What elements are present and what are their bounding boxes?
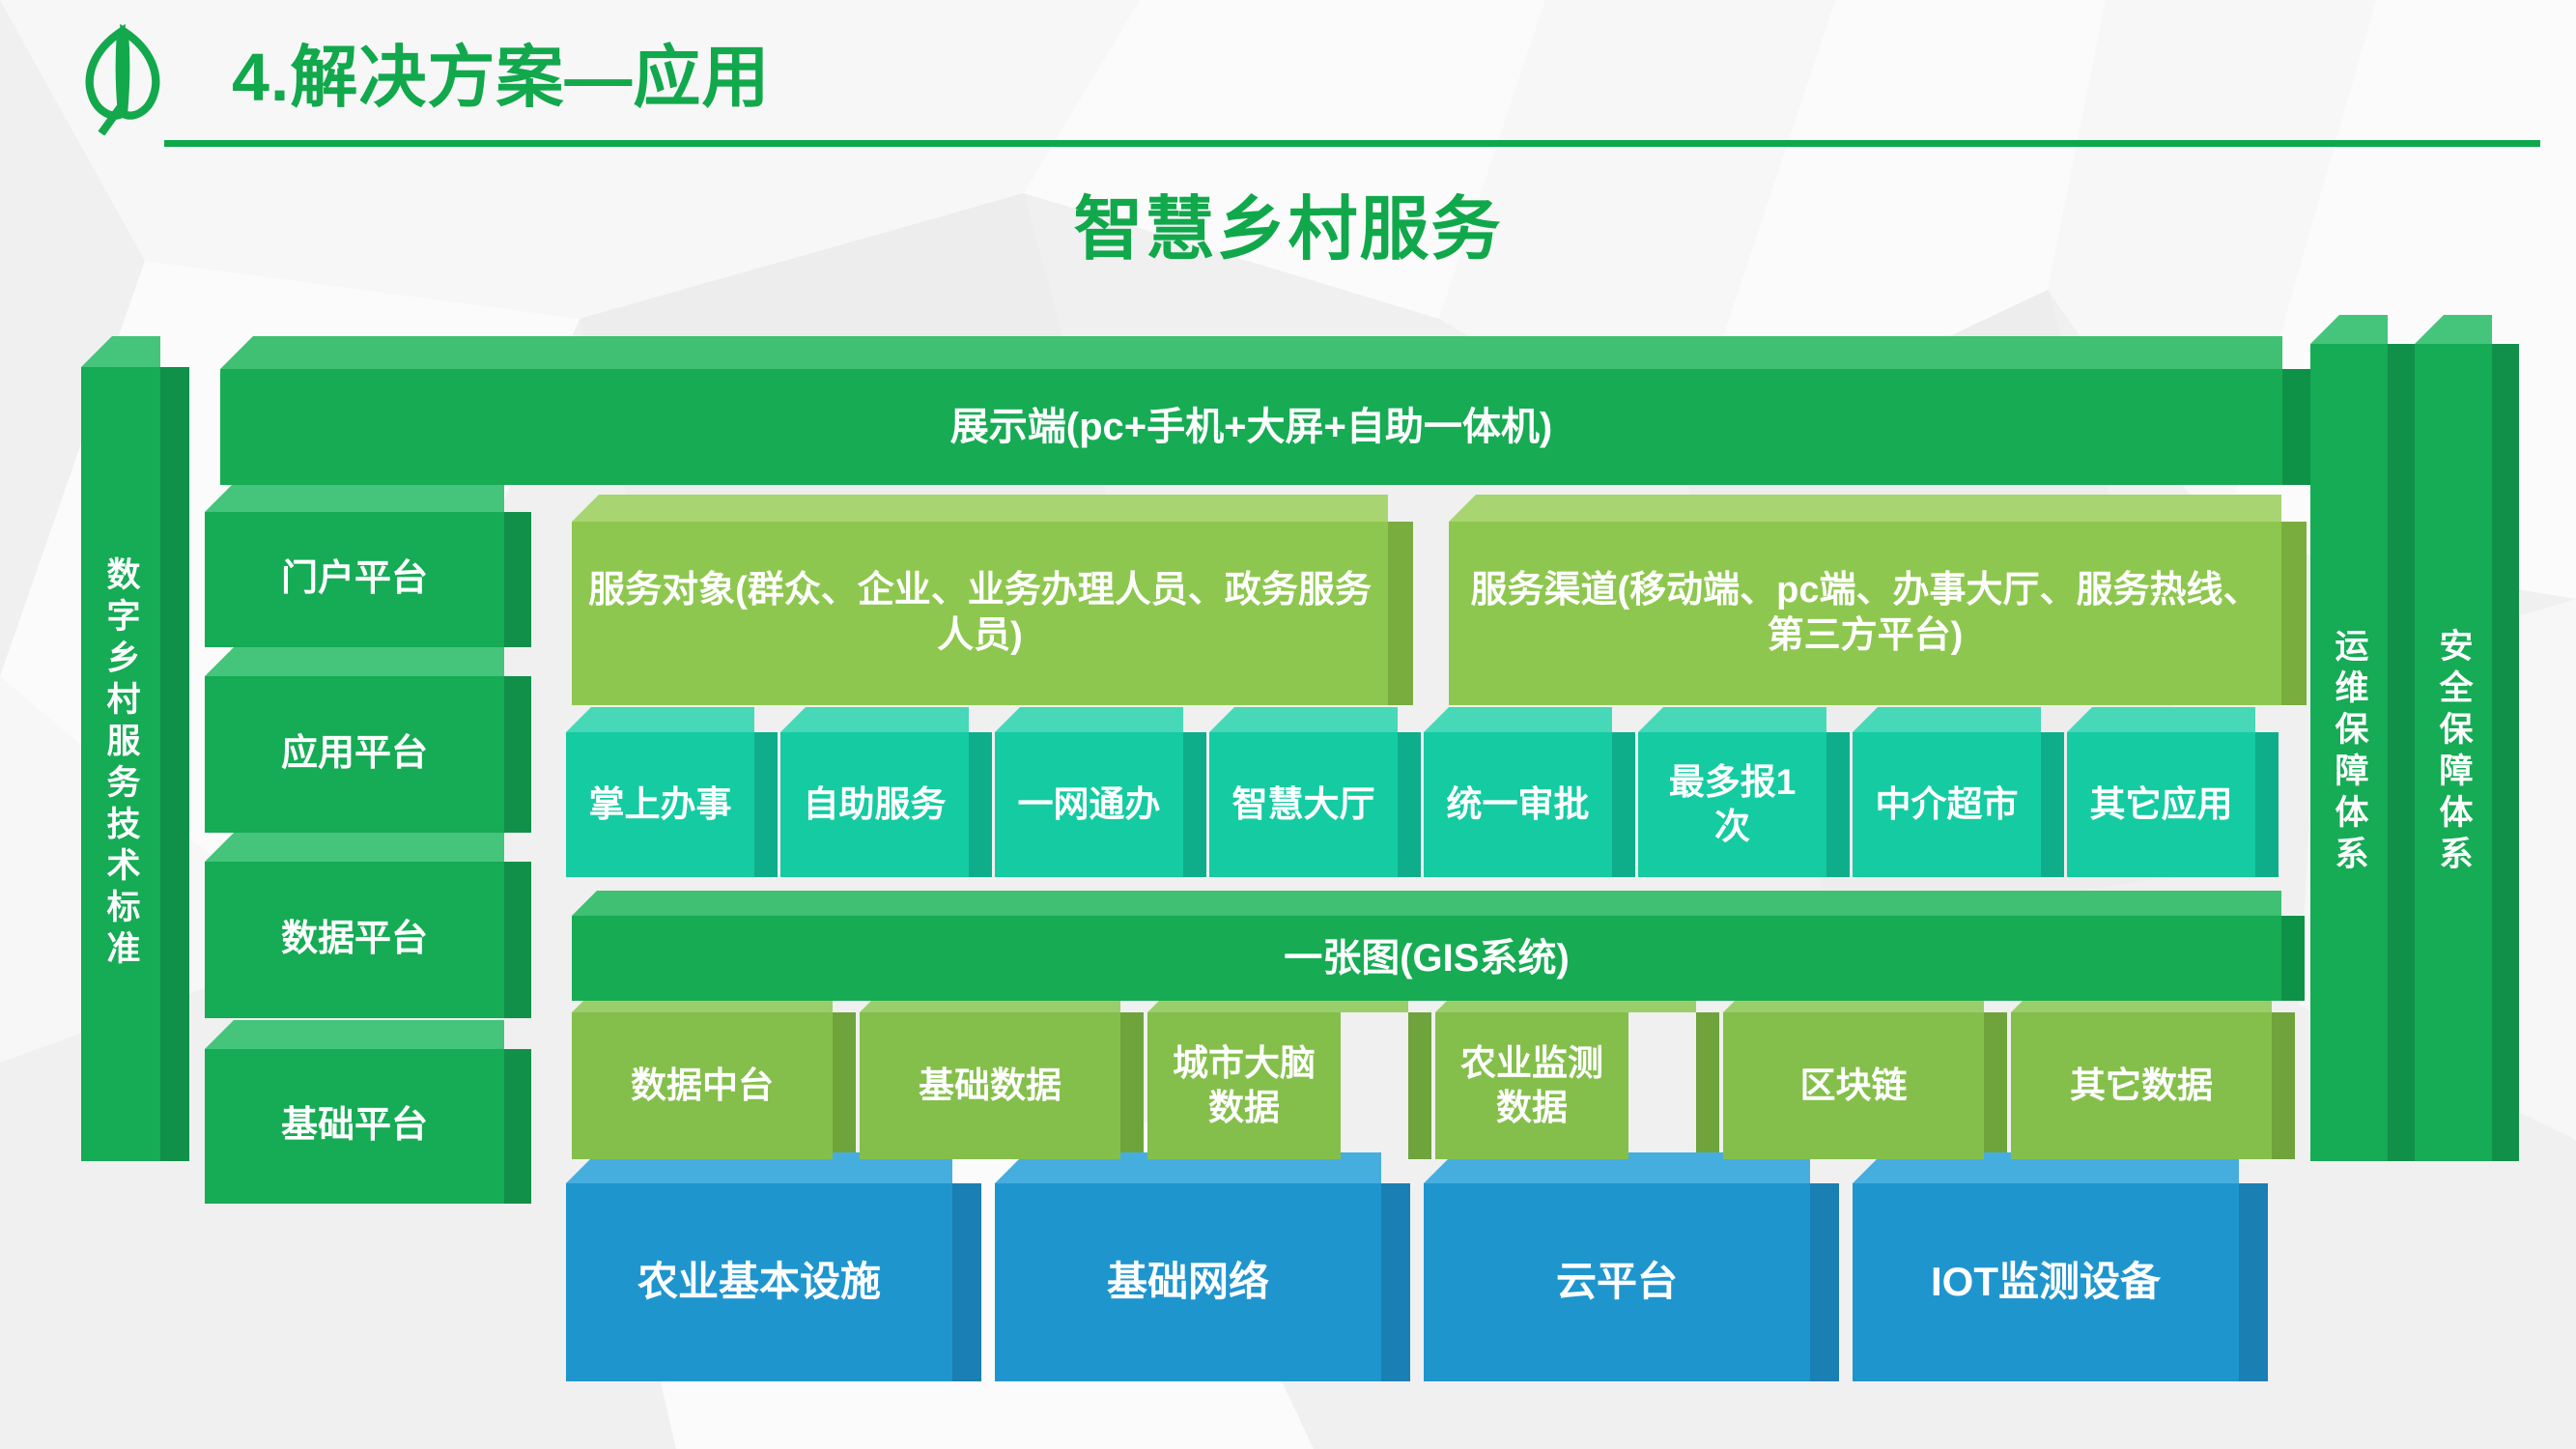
application-block-label: 自助服务: [780, 732, 969, 877]
block-side-face: [1408, 1012, 1431, 1159]
layer-name-portal-label: 门户平台: [205, 512, 504, 647]
layer-name-infrastructure[interactable]: 基础平台: [205, 1049, 504, 1204]
infrastructure-block[interactable]: IOT监测设备: [1853, 1183, 2239, 1381]
data-block[interactable]: 农业监测数据: [1435, 1012, 1696, 1159]
block-side-face: [1612, 732, 1635, 877]
application-block[interactable]: 其它应用: [2067, 732, 2255, 877]
layer-name-data[interactable]: 数据平台: [205, 862, 504, 1018]
block-top-face: [780, 707, 969, 732]
block-side-face: [2041, 732, 2064, 877]
block-side-face: [1826, 732, 1850, 877]
block-side-face: [969, 732, 992, 877]
portal-block-service-objects[interactable]: 服务对象(群众、企业、业务办理人员、政务服务人员): [572, 522, 1388, 705]
infrastructure-block[interactable]: 云平台: [1424, 1183, 1810, 1381]
block-side-face: [1120, 1012, 1144, 1159]
block-top-face: [1424, 707, 1612, 732]
application-block[interactable]: 最多报1次: [1638, 732, 1826, 877]
block-side-face: [952, 1183, 981, 1381]
block-side-face: [2281, 522, 2307, 705]
bar-top-face: [572, 891, 2281, 916]
data-block[interactable]: 基础数据: [860, 1012, 1120, 1159]
gis-layer-bar[interactable]: 一张图(GIS系统): [572, 916, 2281, 1001]
block-side-face: [833, 1012, 856, 1159]
application-block[interactable]: 一网通办: [995, 732, 1183, 877]
block-top-face: [205, 647, 504, 676]
infrastructure-block-label: 农业基本设施: [566, 1183, 952, 1381]
block-side-face: [2239, 1183, 2268, 1381]
block-top-face: [572, 495, 1388, 522]
pillar-side-face: [160, 367, 189, 1161]
infrastructure-block-label: 云平台: [1424, 1183, 1810, 1381]
data-block-label: 数据中台: [572, 1012, 833, 1159]
leaf-icon: [60, 19, 185, 135]
data-block[interactable]: 城市大脑数据: [1147, 1012, 1408, 1159]
layer-name-application[interactable]: 应用平台: [205, 676, 504, 833]
block-side-face: [1696, 1012, 1719, 1159]
block-top-face: [1209, 707, 1398, 732]
title-divider: [164, 140, 2540, 147]
pillar-top-face: [2415, 315, 2492, 344]
block-top-face: [1853, 707, 2041, 732]
block-side-face: [504, 862, 531, 1018]
application-block[interactable]: 自助服务: [780, 732, 969, 877]
block-top-face: [2067, 707, 2255, 732]
data-block[interactable]: 区块链: [1723, 1012, 1984, 1159]
gis-layer-label: 一张图(GIS系统): [572, 916, 2281, 1001]
page-title: 4.解决方案—应用: [232, 23, 770, 121]
block-top-face: [205, 833, 504, 862]
application-block-label: 统一审批: [1424, 732, 1612, 877]
left-pillar-standards[interactable]: 数字乡村服务技术标准: [81, 367, 160, 1161]
data-block-label: 基础数据: [860, 1012, 1120, 1159]
application-block-label: 最多报1次: [1638, 732, 1826, 877]
right-pillar-security-label: 安全保障体系: [2415, 344, 2492, 1161]
block-side-face: [1183, 732, 1206, 877]
application-block[interactable]: 中介超市: [1853, 732, 2041, 877]
block-side-face: [504, 512, 531, 647]
application-block[interactable]: 掌上办事: [566, 732, 754, 877]
bar-side-face: [2282, 369, 2313, 485]
block-side-face: [504, 676, 531, 833]
block-side-face: [2255, 732, 2279, 877]
block-side-face: [1984, 1012, 2007, 1159]
block-side-face: [754, 732, 778, 877]
block-top-face: [995, 707, 1183, 732]
page-header: 4.解决方案—应用: [0, 0, 2576, 155]
block-top-face: [566, 707, 754, 732]
application-block-label: 掌上办事: [566, 732, 754, 877]
data-block-label: 其它数据: [2011, 1012, 2272, 1159]
pillar-top-face: [2310, 315, 2388, 344]
layer-name-infrastructure-label: 基础平台: [205, 1049, 504, 1204]
layer-name-data-label: 数据平台: [205, 862, 504, 1018]
infrastructure-block-label: IOT监测设备: [1853, 1183, 2239, 1381]
data-block[interactable]: 其它数据: [2011, 1012, 2272, 1159]
block-side-face: [1810, 1183, 1839, 1381]
application-block-label: 一网通办: [995, 732, 1183, 877]
portal-block-service-channels[interactable]: 服务渠道(移动端、pc端、办事大厅、服务热线、第三方平台): [1449, 522, 2281, 705]
bar-side-face: [2281, 916, 2305, 1001]
data-block-label: 农业监测数据: [1435, 1012, 1628, 1159]
block-side-face: [2272, 1012, 2295, 1159]
infrastructure-block[interactable]: 农业基本设施: [566, 1183, 952, 1381]
block-top-face: [205, 1020, 504, 1049]
block-side-face: [1398, 732, 1421, 877]
infrastructure-block[interactable]: 基础网络: [995, 1183, 1381, 1381]
right-pillar-security[interactable]: 安全保障体系: [2415, 344, 2492, 1161]
block-top-face: [1638, 707, 1826, 732]
data-block-label: 城市大脑数据: [1147, 1012, 1341, 1159]
bar-top-face: [220, 336, 2282, 369]
portal-block-service-objects-label: 服务对象(群众、企业、业务办理人员、政务服务人员): [572, 522, 1388, 705]
pillar-side-face: [2388, 344, 2415, 1161]
pillar-top-face: [81, 336, 160, 367]
block-top-face: [205, 483, 504, 512]
application-block[interactable]: 智慧大厅: [1209, 732, 1398, 877]
application-block-label: 智慧大厅: [1209, 732, 1398, 877]
application-block-label: 中介超市: [1853, 732, 2041, 877]
right-pillar-ops-label: 运维保障体系: [2310, 344, 2388, 1161]
data-block[interactable]: 数据中台: [572, 1012, 833, 1159]
display-layer-label: 展示端(pc+手机+大屏+自助一体机): [220, 369, 2282, 485]
display-layer-bar[interactable]: 展示端(pc+手机+大屏+自助一体机): [220, 369, 2282, 485]
right-pillar-ops[interactable]: 运维保障体系: [2310, 344, 2388, 1161]
pillar-side-face: [2492, 344, 2519, 1161]
block-side-face: [504, 1049, 531, 1204]
data-block-label: 区块链: [1723, 1012, 1984, 1159]
block-top-face: [1449, 495, 2281, 522]
application-block[interactable]: 统一审批: [1424, 732, 1612, 877]
left-pillar-label: 数字乡村服务技术标准: [81, 367, 160, 1161]
architecture-diagram: 数字乡村服务技术标准 运维保障体系 安全保障体系 展示端(pc+手机+大屏+自助…: [0, 0, 2576, 1449]
portal-block-service-channels-label: 服务渠道(移动端、pc端、办事大厅、服务热线、第三方平台): [1449, 522, 2281, 705]
application-block-label: 其它应用: [2067, 732, 2255, 877]
layer-name-portal[interactable]: 门户平台: [205, 512, 504, 647]
infrastructure-block-label: 基础网络: [995, 1183, 1381, 1381]
layer-name-application-label: 应用平台: [205, 676, 504, 833]
block-side-face: [1388, 522, 1413, 705]
block-side-face: [1381, 1183, 1410, 1381]
